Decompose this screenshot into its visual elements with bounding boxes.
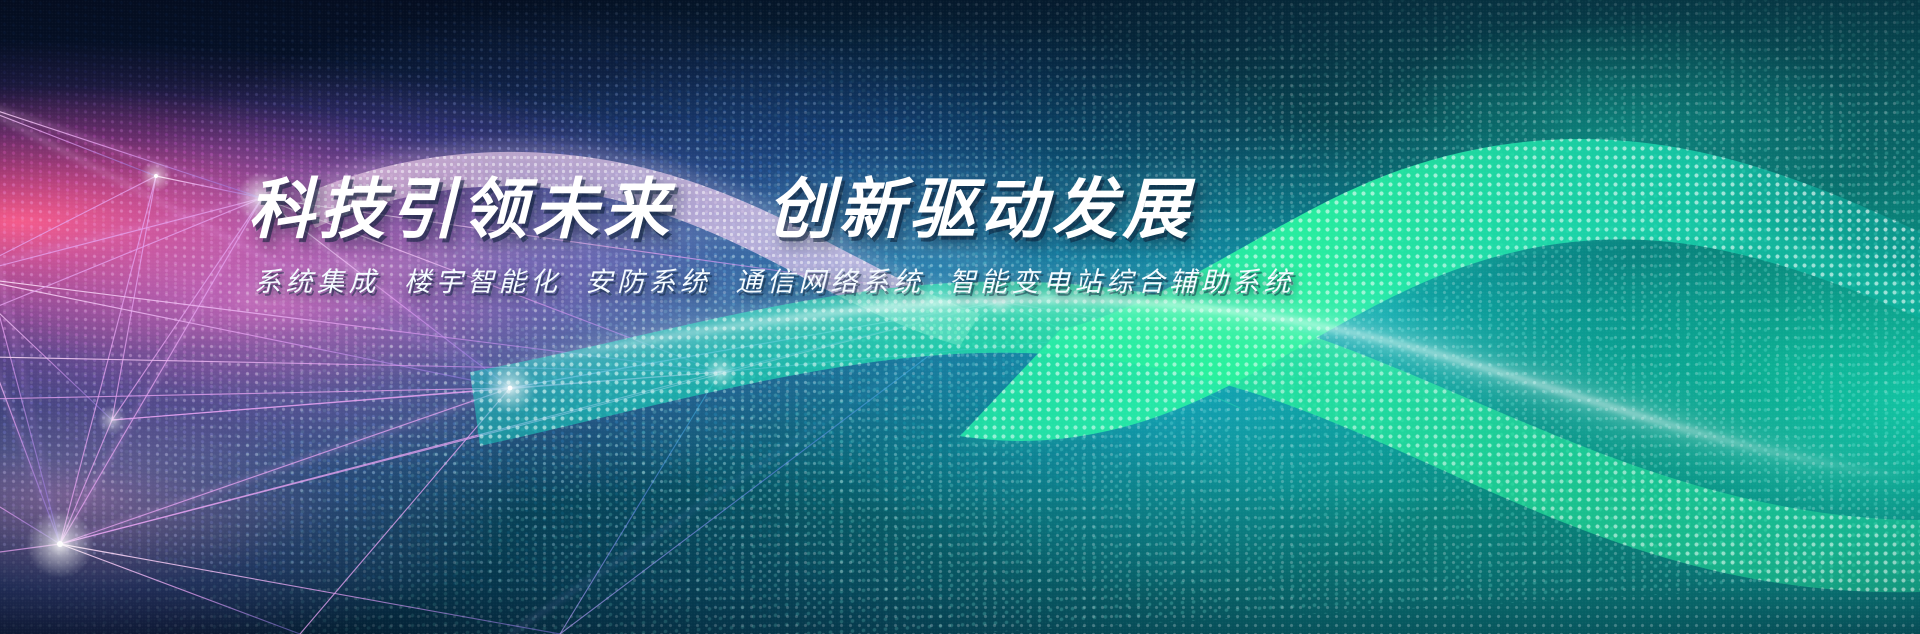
banner-subtitle: 系统集成 楼宇智能化 安防系统 通信网络系统 智能变电站综合辅助系统 bbox=[254, 269, 1708, 296]
background-artwork bbox=[0, 0, 1920, 634]
banner-copy: 科技引领未来 创新驱动发展 系统集成 楼宇智能化 安防系统 通信网络系统 智能变… bbox=[248, 176, 1708, 296]
banner-title: 科技引领未来 创新驱动发展 bbox=[248, 176, 1708, 242]
wave-ribbon-teal-lower bbox=[0, 0, 1920, 634]
hero-banner: 科技引领未来 创新驱动发展 系统集成 楼宇智能化 安防系统 通信网络系统 智能变… bbox=[0, 0, 1920, 634]
